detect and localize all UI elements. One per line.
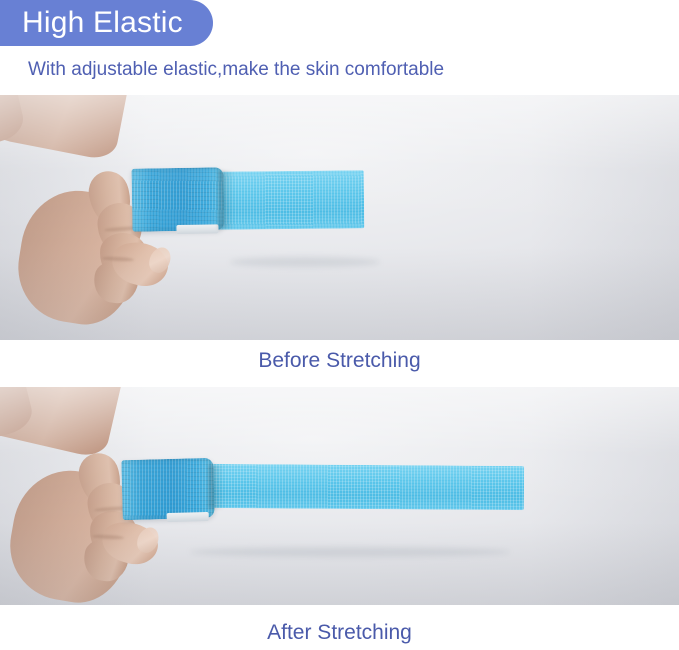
- bandage-roll-before: [131, 167, 224, 232]
- bandage-roll-after: [121, 458, 215, 520]
- photo-before-stretching: [0, 95, 679, 340]
- subtitle-text: With adjustable elastic,make the skin co…: [28, 58, 444, 82]
- bandage-strip-after: [204, 464, 524, 510]
- caption-after-stretching: After Stretching: [0, 622, 679, 643]
- infographic-page: High Elastic With adjustable elastic,mak…: [0, 0, 679, 650]
- header: High Elastic With adjustable elastic,mak…: [0, 0, 679, 95]
- title-badge-label: High Elastic: [22, 8, 183, 38]
- bandage-strip-before: [214, 170, 365, 230]
- caption-before-stretching: Before Stretching: [0, 350, 679, 371]
- title-badge: High Elastic: [0, 0, 213, 46]
- photo-after-stretching: [0, 387, 679, 605]
